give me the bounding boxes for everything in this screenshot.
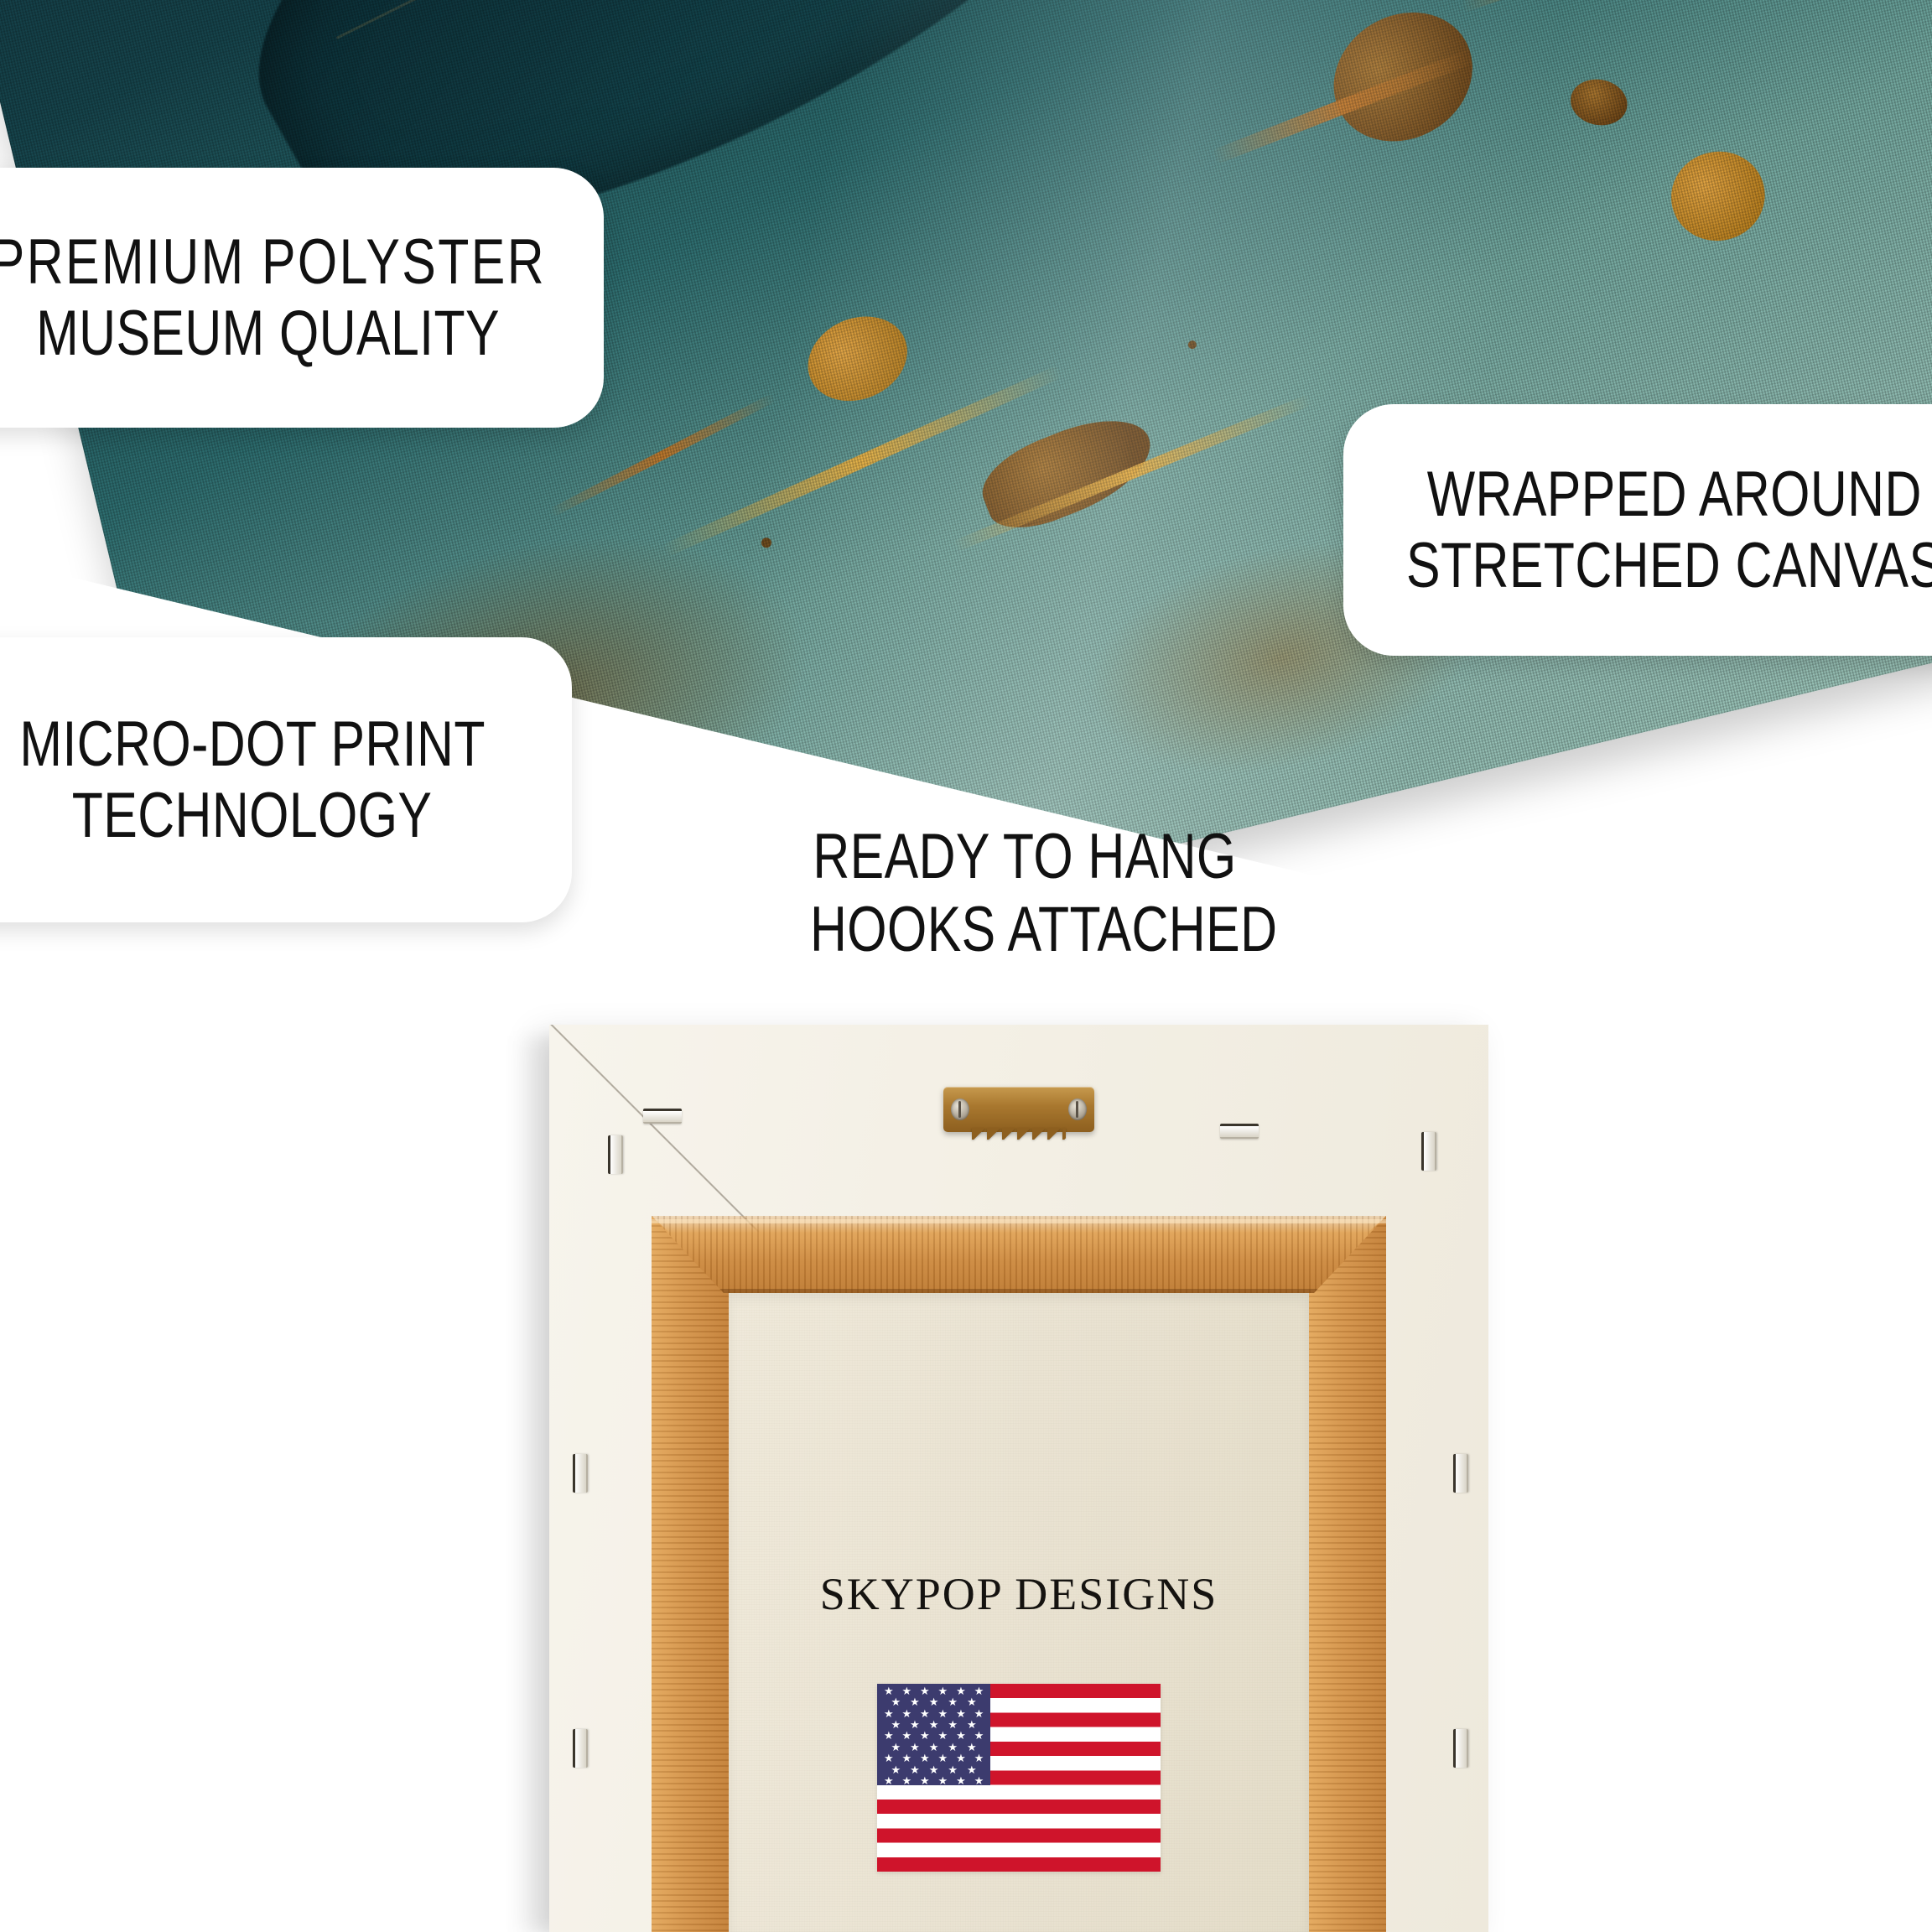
us-flag-icon: ★★★★★★★★★★★★★★★★★★★★★★★★★★★★★★★★★★★★★★★★…	[877, 1684, 1161, 1872]
flag-star: ★	[884, 1753, 894, 1763]
flag-star: ★	[956, 1775, 966, 1786]
stretcher-bar-top	[652, 1216, 1386, 1293]
flag-star: ★	[967, 1719, 977, 1730]
screw-icon	[951, 1098, 969, 1120]
flag-star-row: ★★★★★★	[877, 1775, 990, 1786]
flag-star: ★	[956, 1753, 966, 1763]
flag-star: ★	[901, 1775, 911, 1786]
flag-star: ★	[929, 1696, 939, 1707]
flag-star: ★	[948, 1719, 958, 1730]
screw-icon	[1068, 1098, 1087, 1120]
flag-star-row: ★★★★★	[877, 1719, 990, 1730]
flag-star: ★	[920, 1730, 930, 1741]
flag-star: ★	[920, 1708, 930, 1719]
staple	[643, 1109, 682, 1124]
staple	[1453, 1729, 1468, 1768]
flag-star: ★	[967, 1764, 977, 1775]
feature-ready-line1: READY TO HANG	[810, 820, 1239, 893]
flag-star: ★	[974, 1685, 984, 1696]
staple	[573, 1729, 588, 1768]
flag-star: ★	[938, 1730, 948, 1741]
flag-star: ★	[910, 1742, 920, 1753]
flag-star: ★	[891, 1719, 901, 1730]
flag-star-row: ★★★★★	[877, 1742, 990, 1753]
flag-star: ★	[920, 1685, 930, 1696]
flag-star: ★	[956, 1708, 966, 1719]
feature-ready-to-hang: READY TO HANG HOOKS ATTACHED	[756, 820, 1293, 967]
flag-star: ★	[884, 1730, 894, 1741]
feature-micro-line2: TECHNOLOGY	[72, 780, 433, 851]
staple	[1220, 1124, 1259, 1139]
flag-star: ★	[967, 1696, 977, 1707]
staple	[608, 1135, 623, 1174]
feature-premium-line2: MUSEUM QUALITY	[37, 298, 501, 369]
staple	[1421, 1132, 1436, 1171]
flag-star: ★	[967, 1742, 977, 1753]
sawtooth-hanger-icon	[943, 1087, 1094, 1132]
flag-star-row: ★★★★★	[877, 1764, 990, 1775]
flag-star: ★	[884, 1685, 894, 1696]
flag-star-row: ★★★★★	[877, 1696, 990, 1707]
flag-star: ★	[948, 1696, 958, 1707]
flag-star-row: ★★★★★★	[877, 1685, 990, 1696]
flag-star-row: ★★★★★★	[877, 1730, 990, 1741]
flag-union: ★★★★★★★★★★★★★★★★★★★★★★★★★★★★★★★★★★★★★★★★…	[877, 1684, 990, 1785]
flag-star: ★	[974, 1730, 984, 1741]
flag-star: ★	[910, 1764, 920, 1775]
flag-star: ★	[901, 1753, 911, 1763]
flag-star: ★	[910, 1696, 920, 1707]
flag-star-row: ★★★★★★	[877, 1708, 990, 1719]
feature-wrapped-line2: STRETCHED CANVAS	[1406, 530, 1932, 601]
staple	[573, 1454, 588, 1493]
feature-ready-line2: HOOKS ATTACHED	[810, 893, 1239, 966]
flag-star: ★	[956, 1730, 966, 1741]
feature-wrapped-around: WRAPPED AROUND STRETCHED CANVAS	[1343, 404, 1932, 656]
infographic-canvas: PREMIUM POLYSTER MUSEUM QUALITY WRAPPED …	[0, 0, 1932, 1932]
flag-star: ★	[929, 1742, 939, 1753]
flag-star: ★	[901, 1730, 911, 1741]
flag-star: ★	[884, 1775, 894, 1786]
flag-star: ★	[910, 1719, 920, 1730]
flag-star: ★	[891, 1696, 901, 1707]
flag-star: ★	[948, 1764, 958, 1775]
flag-star: ★	[938, 1753, 948, 1763]
feature-premium-polyster: PREMIUM POLYSTER MUSEUM QUALITY	[0, 168, 604, 428]
flag-star: ★	[891, 1742, 901, 1753]
feature-premium-line1: PREMIUM POLYSTER	[0, 226, 546, 298]
staple	[1453, 1454, 1468, 1493]
flag-star: ★	[974, 1708, 984, 1719]
flag-star: ★	[920, 1753, 930, 1763]
flag-star: ★	[901, 1708, 911, 1719]
brand-label: SKYPOP DESIGNS	[549, 1568, 1488, 1620]
flag-star: ★	[929, 1719, 939, 1730]
flag-star: ★	[884, 1708, 894, 1719]
flag-star: ★	[901, 1685, 911, 1696]
flag-star: ★	[938, 1775, 948, 1786]
flag-star-row: ★★★★★★	[877, 1753, 990, 1763]
flag-star: ★	[929, 1764, 939, 1775]
flag-star: ★	[920, 1775, 930, 1786]
feature-micro-dot-print: MICRO-DOT PRINT TECHNOLOGY	[0, 637, 572, 922]
flag-star: ★	[974, 1775, 984, 1786]
flag-star: ★	[891, 1764, 901, 1775]
flag-star: ★	[938, 1685, 948, 1696]
flag-star: ★	[974, 1753, 984, 1763]
canvas-back-photo: SKYPOP DESIGNS ★★★★★★★★★★★★★★★★★★★★★★★★★…	[549, 1025, 1488, 1932]
flag-star: ★	[948, 1742, 958, 1753]
flag-star: ★	[956, 1685, 966, 1696]
feature-wrapped-line1: WRAPPED AROUND	[1427, 459, 1922, 530]
feature-micro-line1: MICRO-DOT PRINT	[19, 709, 485, 780]
flag-star: ★	[938, 1708, 948, 1719]
